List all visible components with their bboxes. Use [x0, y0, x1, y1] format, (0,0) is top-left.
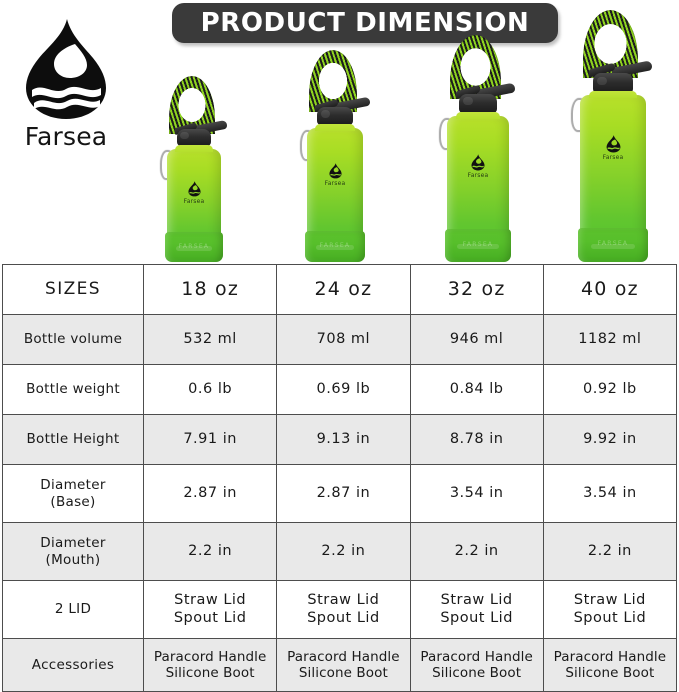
cell-bottle-height-18oz: 7.91 in [144, 415, 277, 465]
cell-bottle-height-40oz: 9.92 in [543, 415, 676, 465]
column-header-18oz: 18 oz [144, 265, 277, 315]
cell-lid-32oz: Straw Lid Spout Lid [410, 581, 543, 639]
row-label-diameter-mouth-line1: Diameter [5, 535, 141, 551]
row-label-accessories: Accessories [3, 639, 144, 692]
bottle-lid [177, 129, 212, 146]
table-row: 2 LID Straw Lid Spout Lid Straw Lid Spou… [3, 581, 677, 639]
table-row: Bottle weight 0.6 lb 0.69 lb 0.84 lb 0.9… [3, 365, 677, 415]
row-label-2-lid: 2 LID [3, 581, 144, 639]
bottle-logo-text: Farsea [580, 154, 646, 161]
cell-lid-24oz-line1: Straw Lid [279, 592, 407, 610]
table-row: Diameter (Mouth) 2.2 in 2.2 in 2.2 in 2.… [3, 523, 677, 581]
cell-lid-32oz-line1: Straw Lid [413, 592, 541, 610]
bottle-logo-text: Farsea [447, 172, 509, 179]
cell-lid-40oz: Straw Lid Spout Lid [543, 581, 676, 639]
bottle-logo: Farsea [307, 163, 363, 187]
silicone-boot: FARSEA [578, 228, 648, 262]
row-label-bottle-volume: Bottle volume [3, 315, 144, 365]
cell-accessories-40oz-line1: Paracord Handle [546, 649, 674, 665]
cell-lid-24oz: Straw Lid Spout Lid [277, 581, 410, 639]
cell-accessories-32oz-line2: Silicone Boot [413, 665, 541, 681]
cell-accessories-40oz: Paracord Handle Silicone Boot [543, 639, 676, 692]
table-header-row: SIZES 18 oz 24 oz 32 oz 40 oz [3, 265, 677, 315]
cell-bottle-weight-24oz: 0.69 lb [277, 365, 410, 415]
header-section: Farsea PRODUCT DIMENSION Farsea [0, 0, 679, 262]
row-label-diameter-base: Diameter (Base) [3, 465, 144, 523]
bottle-body: Farsea FARSEA [447, 116, 509, 262]
table-row: Bottle Height 7.91 in 9.13 in 8.78 in 9.… [3, 415, 677, 465]
cell-diameter-base-18oz: 2.87 in [144, 465, 277, 523]
cell-bottle-volume-32oz: 946 ml [410, 315, 543, 365]
boot-text: FARSEA [305, 242, 364, 249]
bottle-logo-text: Farsea [167, 198, 221, 205]
cell-diameter-base-32oz: 3.54 in [410, 465, 543, 523]
cell-accessories-24oz-line1: Paracord Handle [279, 649, 407, 665]
cell-lid-18oz-line1: Straw Lid [146, 592, 274, 610]
bottle-droplet-icon [329, 163, 342, 179]
bottle-lid [593, 73, 634, 93]
cell-accessories-32oz-line1: Paracord Handle [413, 649, 541, 665]
bottle-droplet-icon [188, 181, 201, 197]
bottle-shoulder [589, 91, 637, 98]
cell-bottle-weight-32oz: 0.84 lb [410, 365, 543, 415]
bottle-logo: Farsea [447, 154, 509, 179]
boot-text: FARSEA [445, 241, 511, 248]
row-label-bottle-height: Bottle Height [3, 415, 144, 465]
column-header-40oz: 40 oz [543, 265, 676, 315]
cell-accessories-24oz: Paracord Handle Silicone Boot [277, 639, 410, 692]
row-label-diameter-mouth: Diameter (Mouth) [3, 523, 144, 581]
cell-lid-40oz-line2: Spout Lid [546, 610, 674, 628]
bottle-image-40oz: Farsea FARSEA [580, 76, 646, 262]
cell-bottle-volume-40oz: 1182 ml [543, 315, 676, 365]
cell-accessories-18oz-line1: Paracord Handle [146, 649, 274, 665]
bottle-image-18oz: Farsea FARSEA [167, 132, 221, 262]
cell-accessories-24oz-line2: Silicone Boot [279, 665, 407, 681]
table-row: Accessories Paracord Handle Silicone Boo… [3, 639, 677, 692]
bottle-body: Farsea FARSEA [167, 149, 221, 262]
bottle-logo: Farsea [580, 135, 646, 161]
table-row: Bottle volume 532 ml 708 ml 946 ml 1182 … [3, 315, 677, 365]
cell-bottle-weight-18oz: 0.6 lb [144, 365, 277, 415]
cell-accessories-40oz-line2: Silicone Boot [546, 665, 674, 681]
silicone-boot: FARSEA [165, 232, 222, 262]
boot-text: FARSEA [165, 243, 222, 250]
row-label-diameter-mouth-line2: (Mouth) [5, 552, 141, 568]
cell-lid-40oz-line1: Straw Lid [546, 592, 674, 610]
page-title: PRODUCT DIMENSION [201, 8, 530, 38]
bottle-shoulder [456, 112, 501, 119]
cell-diameter-mouth-24oz: 2.2 in [277, 523, 410, 581]
column-header-32oz: 32 oz [410, 265, 543, 315]
cell-diameter-base-24oz: 2.87 in [277, 465, 410, 523]
boot-text: FARSEA [578, 240, 648, 247]
bottle-logo: Farsea [167, 181, 221, 205]
cell-bottle-height-32oz: 8.78 in [410, 415, 543, 465]
column-header-sizes: SIZES [3, 265, 144, 315]
cell-diameter-mouth-32oz: 2.2 in [410, 523, 543, 581]
bottle-lid [459, 94, 497, 113]
cell-accessories-32oz: Paracord Handle Silicone Boot [410, 639, 543, 692]
cell-lid-24oz-line2: Spout Lid [279, 610, 407, 628]
product-image-row: Farsea FARSEA F [0, 48, 679, 262]
title-banner: PRODUCT DIMENSION [172, 3, 558, 43]
column-header-24oz: 24 oz [277, 265, 410, 315]
row-label-diameter-base-line1: Diameter [5, 477, 141, 493]
cell-lid-18oz: Straw Lid Spout Lid [144, 581, 277, 639]
bottle-body: Farsea FARSEA [307, 128, 363, 262]
bottle-shoulder [315, 124, 355, 131]
bottle-droplet-icon [606, 135, 621, 153]
row-label-diameter-base-line2: (Base) [5, 494, 141, 510]
cell-accessories-18oz: Paracord Handle Silicone Boot [144, 639, 277, 692]
bottle-lid [317, 107, 353, 125]
silicone-boot: FARSEA [305, 231, 364, 262]
cell-lid-18oz-line2: Spout Lid [146, 610, 274, 628]
bottle-logo-text: Farsea [307, 180, 363, 187]
bottle-image-24oz: Farsea FARSEA [307, 110, 363, 262]
bottle-body: Farsea FARSEA [580, 95, 646, 262]
silicone-boot: FARSEA [445, 229, 511, 262]
cell-diameter-base-40oz: 3.54 in [543, 465, 676, 523]
cell-diameter-mouth-18oz: 2.2 in [144, 523, 277, 581]
cell-bottle-height-24oz: 9.13 in [277, 415, 410, 465]
cell-bottle-weight-40oz: 0.92 lb [543, 365, 676, 415]
cell-accessories-18oz-line2: Silicone Boot [146, 665, 274, 681]
cell-lid-32oz-line2: Spout Lid [413, 610, 541, 628]
table-row: Diameter (Base) 2.87 in 2.87 in 3.54 in … [3, 465, 677, 523]
bottle-shoulder [175, 145, 214, 152]
bottle-image-32oz: Farsea FARSEA [447, 97, 509, 262]
cell-diameter-mouth-40oz: 2.2 in [543, 523, 676, 581]
row-label-bottle-weight: Bottle weight [3, 365, 144, 415]
cell-bottle-volume-24oz: 708 ml [277, 315, 410, 365]
specification-table: SIZES 18 oz 24 oz 32 oz 40 oz Bottle vol… [2, 264, 677, 692]
cell-bottle-volume-18oz: 532 ml [144, 315, 277, 365]
bottle-droplet-icon [471, 154, 485, 171]
